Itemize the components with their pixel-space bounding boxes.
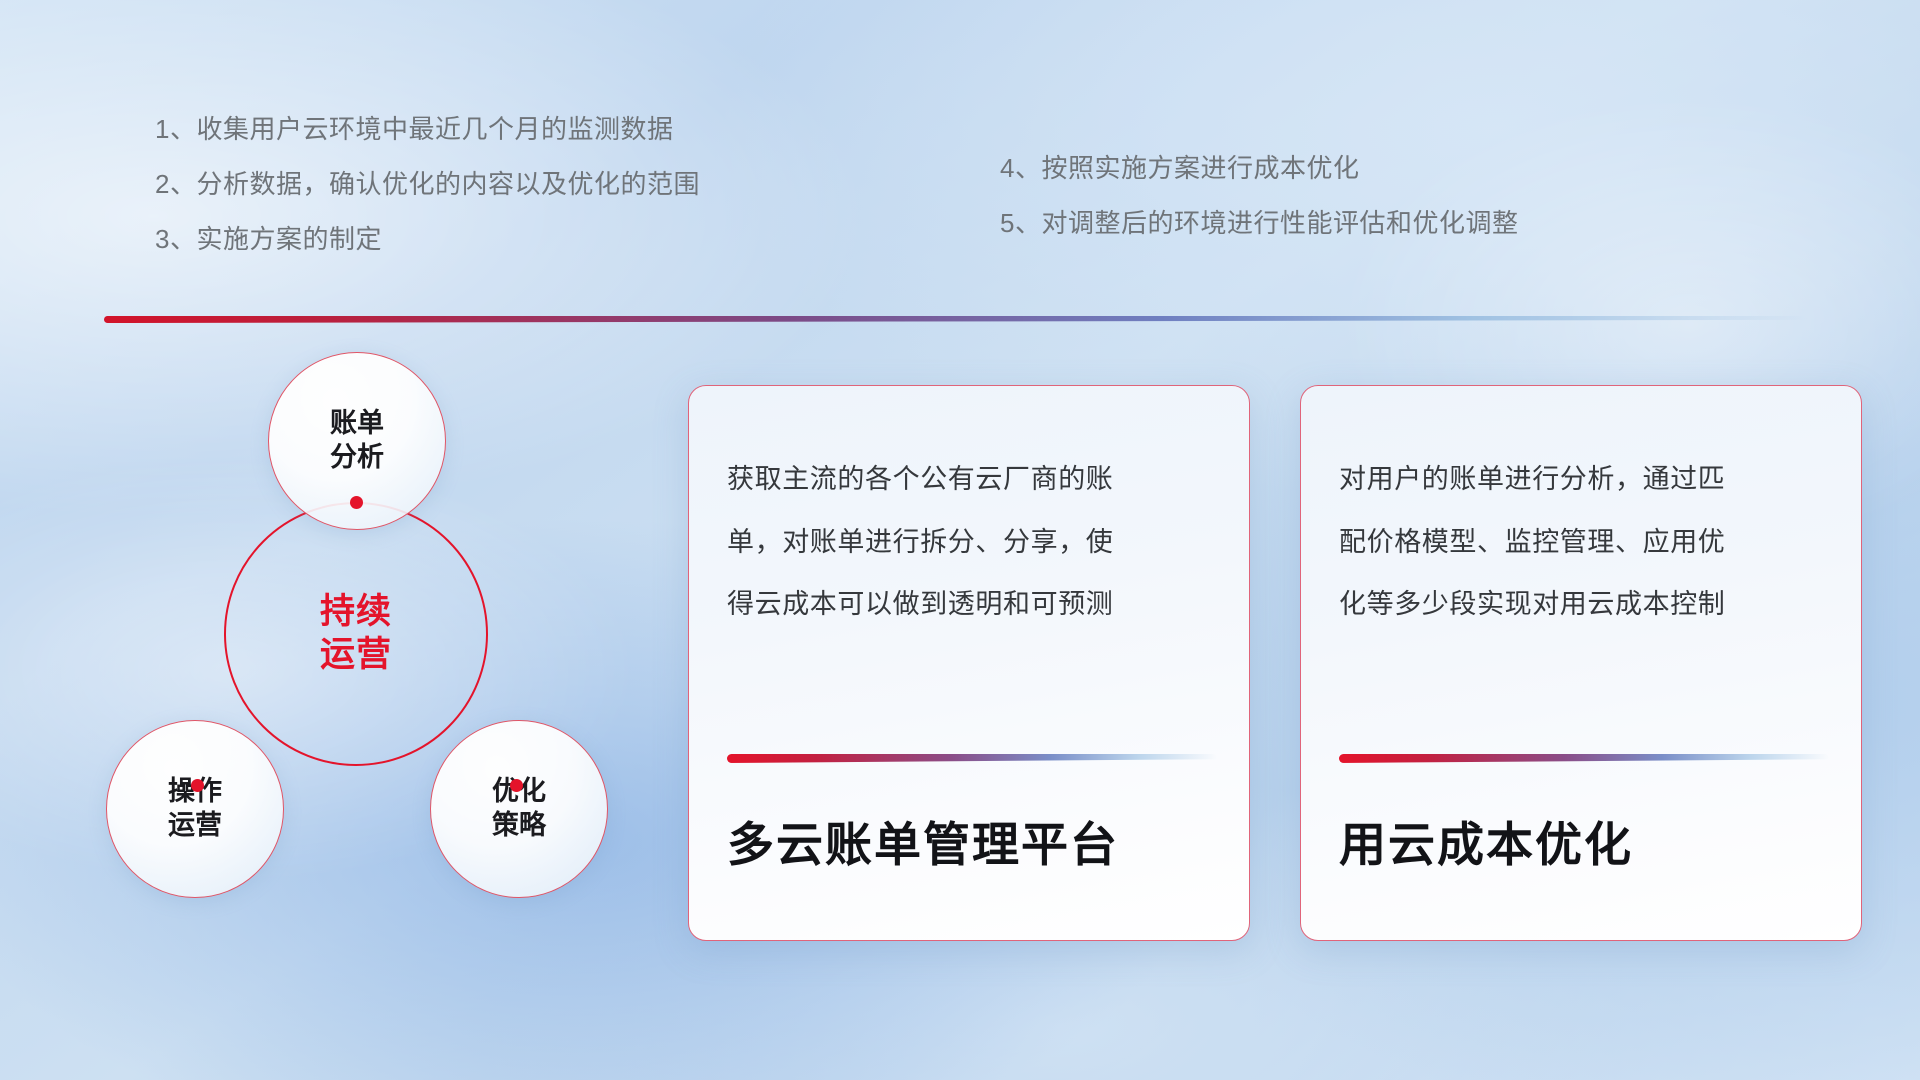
step-item: 1、收集用户云环境中最近几个月的监测数据 — [155, 116, 700, 142]
center-label-line1: 持续 — [320, 591, 392, 634]
card-1-title: 多云账单管理平台 — [727, 806, 1119, 875]
center-label-line2: 运营 — [320, 634, 392, 677]
card-2-title: 用云成本优化 — [1339, 806, 1633, 875]
connector-dot-left — [191, 779, 204, 792]
card-1-body: 获取主流的各个公有云厂商的账 单，对账单进行拆分、分享，使 得云成本可以做到透明… — [727, 448, 1219, 636]
card-2-rule — [1339, 754, 1829, 763]
center-label: 持续 运营 — [224, 502, 488, 766]
continuous-operations-diagram: 持续 运营 账单 分析 操作 运营 优化 策略 — [96, 352, 636, 942]
steps-right-column: 4、按照实施方案进行成本优化 5、对调整后的环境进行性能评估和优化调整 — [1000, 155, 1518, 236]
node-operations-line2: 运营 — [168, 809, 222, 843]
card-2-body-line: 化等多少段实现对用云成本控制 — [1339, 573, 1831, 636]
node-bill-analysis-line1: 账单 — [330, 407, 384, 441]
steps-left-column: 1、收集用户云环境中最近几个月的监测数据 2、分析数据，确认优化的内容以及优化的… — [155, 116, 700, 252]
node-bill-analysis-line2: 分析 — [330, 441, 384, 475]
card-1-rule — [727, 754, 1217, 763]
connector-dot-right — [510, 779, 523, 792]
card-1-body-line: 单，对账单进行拆分、分享，使 — [727, 511, 1219, 574]
step-item: 5、对调整后的环境进行性能评估和优化调整 — [1000, 210, 1518, 236]
step-item: 4、按照实施方案进行成本优化 — [1000, 155, 1518, 181]
connector-dot-top — [350, 496, 363, 509]
step-item: 3、实施方案的制定 — [155, 226, 700, 252]
card-1-body-line: 得云成本可以做到透明和可预测 — [727, 573, 1219, 636]
card-1-body-line: 获取主流的各个公有云厂商的账 — [727, 448, 1219, 511]
card-2-body: 对用户的账单进行分析，通过匹 配价格模型、监控管理、应用优 化等多少段实现对用云… — [1339, 448, 1831, 636]
node-optimization-strategy-line2: 策略 — [492, 809, 546, 843]
card-cloud-cost-optimization[interactable]: 对用户的账单进行分析，通过匹 配价格模型、监控管理、应用优 化等多少段实现对用云… — [1300, 385, 1862, 941]
card-multi-cloud-billing[interactable]: 获取主流的各个公有云厂商的账 单，对账单进行拆分、分享，使 得云成本可以做到透明… — [688, 385, 1250, 941]
node-operations[interactable]: 操作 运营 — [106, 720, 284, 898]
step-item: 2、分析数据，确认优化的内容以及优化的范围 — [155, 171, 700, 197]
card-2-body-line: 对用户的账单进行分析，通过匹 — [1339, 448, 1831, 511]
node-optimization-strategy[interactable]: 优化 策略 — [430, 720, 608, 898]
card-2-body-line: 配价格模型、监控管理、应用优 — [1339, 511, 1831, 574]
